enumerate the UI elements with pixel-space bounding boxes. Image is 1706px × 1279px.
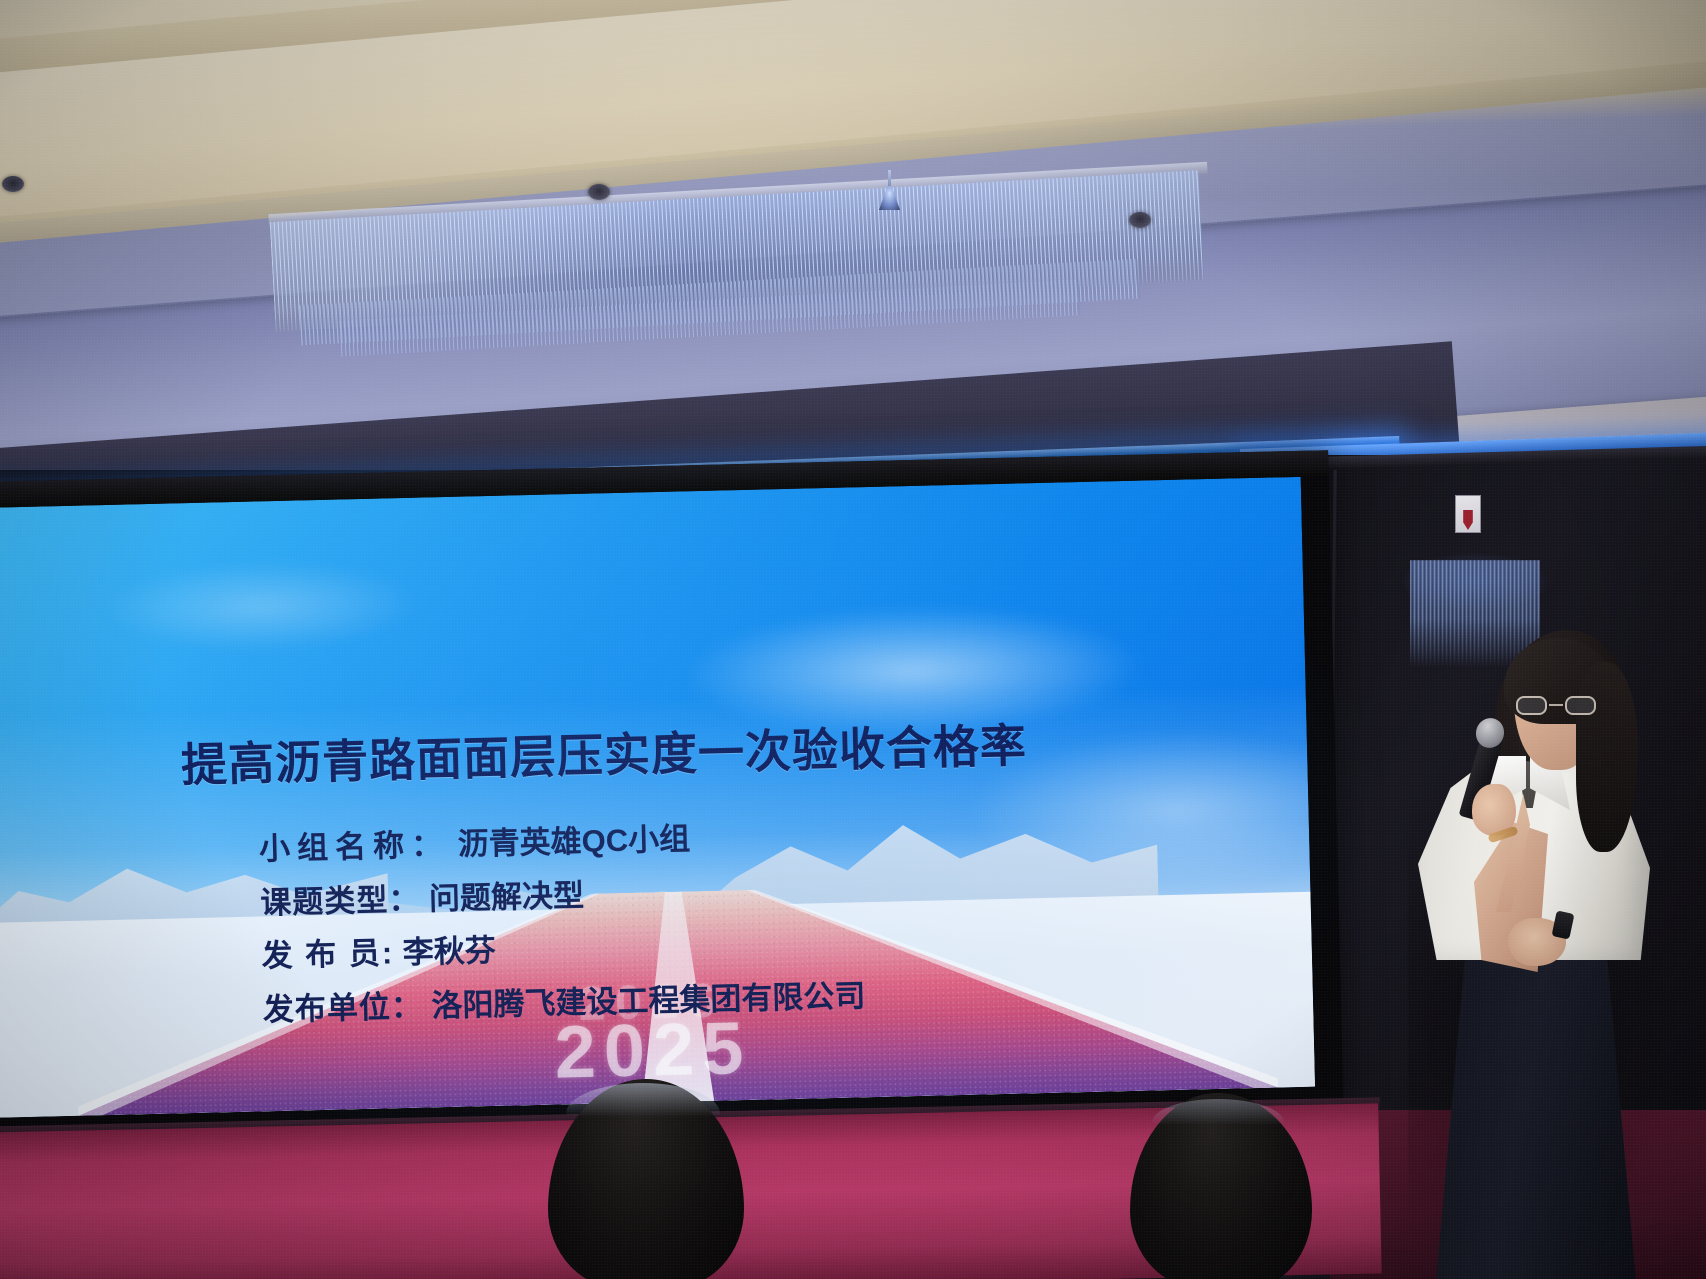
conference-room-photo: 2026 2025 提高沥青路面面层压实度一次验收合格率 小组名称： 沥青英雄Q…	[0, 0, 1706, 1279]
fire-alarm-icon	[1461, 510, 1476, 530]
slide-field-list: 小组名称： 沥青英雄QC小组 课题类型： 问题解决型 发 布 员: 李秋芬 发布…	[259, 817, 866, 1028]
field-label: 发布单位：	[263, 989, 424, 1028]
glasses-lens-right	[1565, 696, 1596, 715]
field-value: 问题解决型	[429, 877, 585, 916]
presenter	[1378, 622, 1706, 1279]
recessed-downlight-icon	[588, 184, 610, 200]
glasses-lens-left	[1516, 696, 1547, 715]
recessed-downlight-icon	[1129, 212, 1151, 228]
field-label: 发 布 员:	[261, 936, 394, 974]
field-value: 沥青英雄QC小组	[457, 821, 690, 861]
fire-alarm-sign	[1455, 495, 1481, 533]
presentation-slide: 2026 2025 提高沥青路面面层压实度一次验收合格率 小组名称： 沥青英雄Q…	[0, 477, 1315, 1118]
slide-field-presenter: 发 布 员: 李秋芬	[261, 925, 864, 975]
field-value: 李秋芬	[402, 933, 496, 970]
audience-head-left	[548, 1079, 744, 1279]
field-label: 课题类型：	[260, 881, 421, 920]
led-video-wall[interactable]: 2026 2025 提高沥青路面面层压实度一次验收合格率 小组名称： 沥青英雄Q…	[0, 450, 1344, 1142]
ceiling	[0, 0, 1706, 470]
glasses-bridge	[1549, 704, 1563, 706]
recessed-downlight-icon	[2, 176, 24, 192]
glasses-icon	[1516, 696, 1596, 716]
field-label: 小组名称：	[259, 827, 450, 866]
slide-field-topic-type: 课题类型： 问题解决型	[260, 871, 863, 921]
presenter-skirt	[1436, 922, 1636, 1279]
